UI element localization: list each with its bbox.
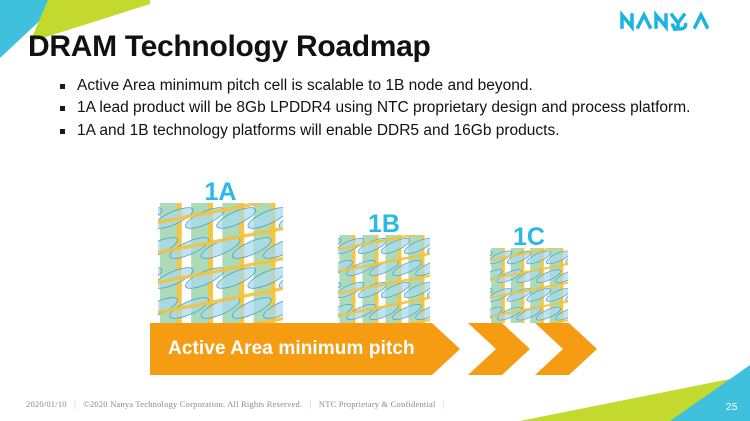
page-number: 25 [726, 402, 738, 413]
node-label: 1B [368, 212, 400, 237]
cell-pattern [490, 248, 568, 323]
bullet-item: Active Area minimum pitch cell is scalab… [60, 76, 720, 96]
footer: 2020/01/10 | ©2020 Nanya Technology Corp… [26, 399, 450, 409]
node-label: 1A [205, 180, 237, 205]
cell-pattern [158, 203, 283, 323]
node-label: 1C [513, 225, 545, 250]
bullet-text: 1A lead product will be 8Gb LPDDR4 using… [77, 98, 690, 118]
bullet-text: Active Area minimum pitch cell is scalab… [77, 76, 533, 96]
bullet-square-icon [60, 129, 65, 134]
dram-cell-array-graphic [158, 203, 283, 323]
bullet-item: 1A lead product will be 8Gb LPDDR4 using… [60, 98, 720, 118]
bullet-list: Active Area minimum pitch cell is scalab… [60, 76, 720, 143]
node-block-1a: 1A [158, 203, 283, 323]
footer-separator: | [74, 399, 76, 409]
dram-cell-array-graphic [338, 235, 430, 323]
bullet-square-icon [60, 84, 65, 89]
bullet-item: 1A and 1B technology platforms will enab… [60, 121, 720, 141]
page-title: DRAM Technology Roadmap [28, 30, 431, 64]
footer-confidential: NTC Proprietary & Confidential [319, 399, 436, 409]
footer-separator: | [310, 399, 312, 409]
footer-copyright: ©2020 Nanya Technology Corporation. All … [83, 399, 302, 409]
banner-label: Active Area minimum pitch [168, 323, 415, 375]
node-block-1b: 1B [338, 235, 430, 323]
bullet-square-icon [60, 106, 65, 111]
cell-pattern [338, 235, 430, 323]
footer-date: 2020/01/10 [26, 399, 67, 409]
nanya-logo [620, 10, 728, 37]
footer-separator: | [443, 399, 445, 409]
bullet-text: 1A and 1B technology platforms will enab… [77, 121, 560, 141]
node-block-1c: 1C [490, 248, 568, 323]
dram-cell-array-graphic [490, 248, 568, 323]
